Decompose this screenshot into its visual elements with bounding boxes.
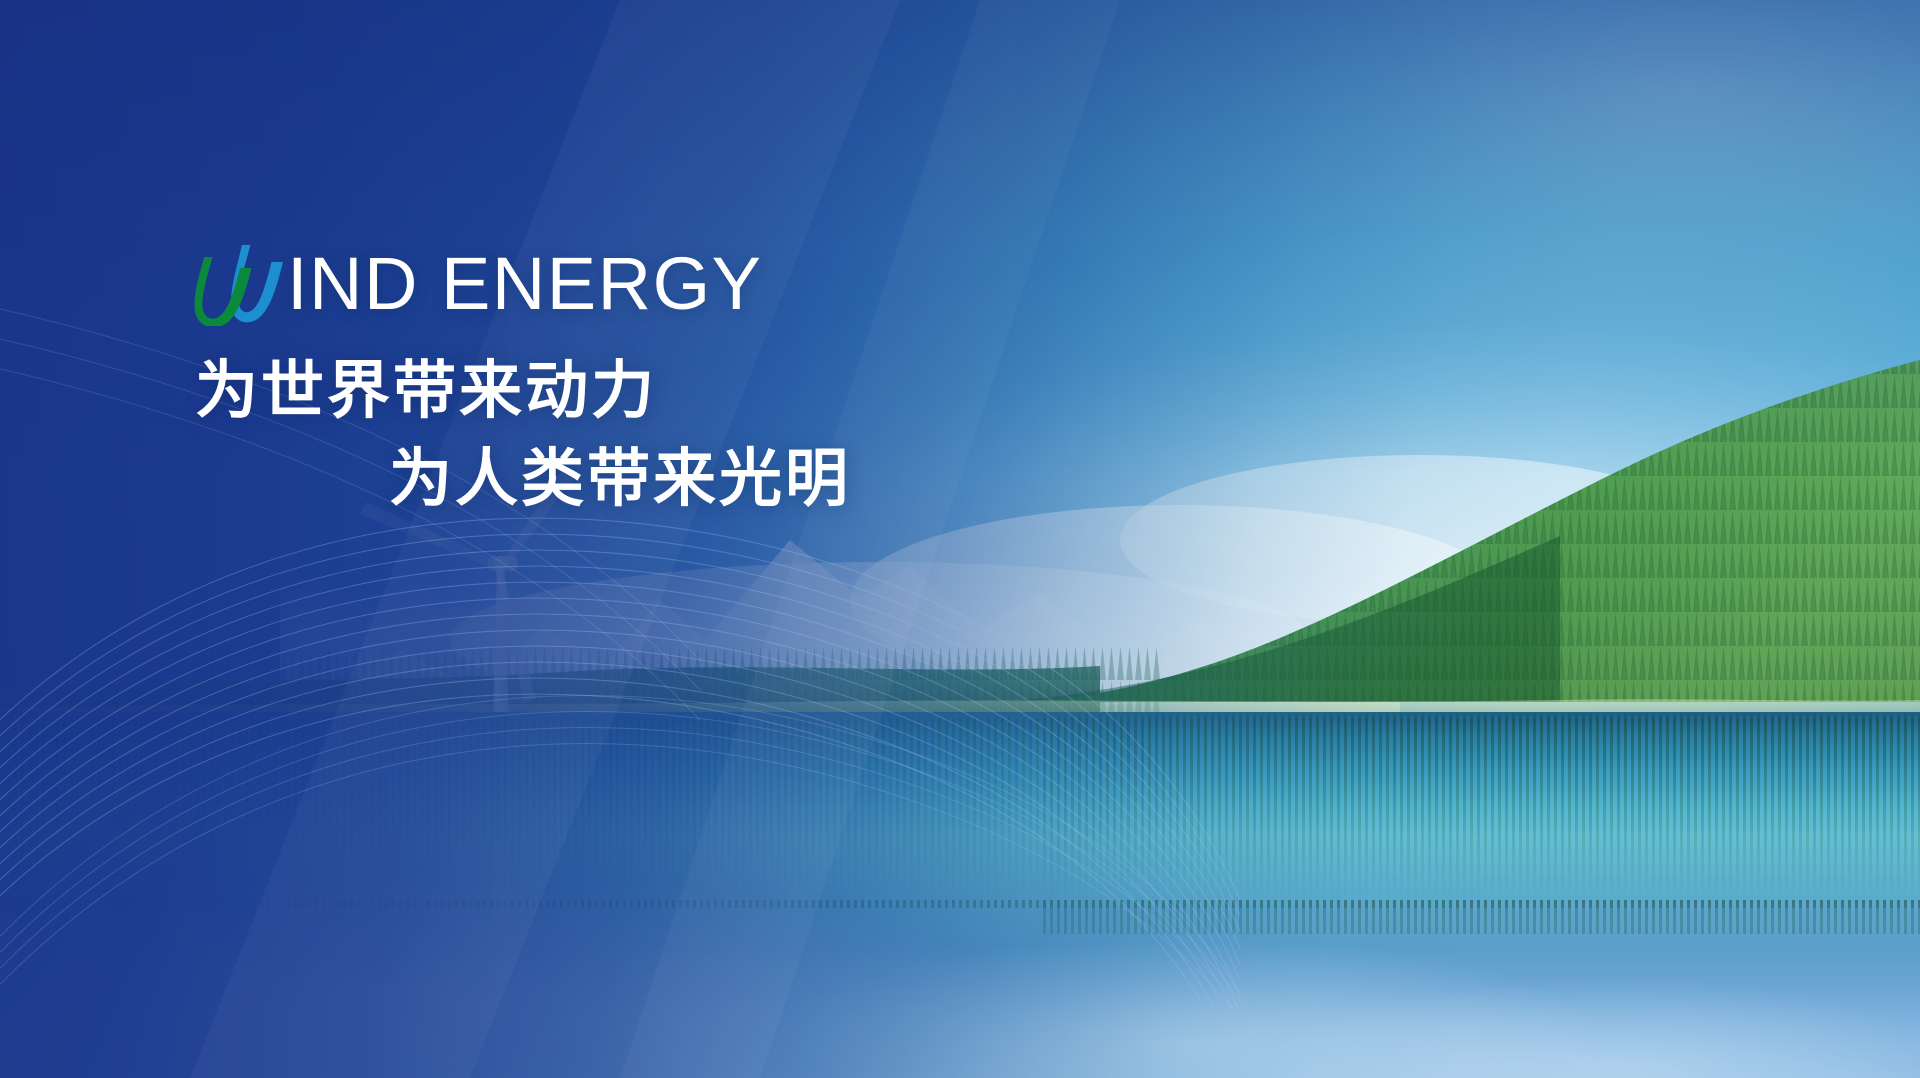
hero-banner: IND ENERGY 为世界带来动力 为人类带来光明 [0, 0, 1920, 1078]
vignette-overlay [0, 0, 1920, 1078]
